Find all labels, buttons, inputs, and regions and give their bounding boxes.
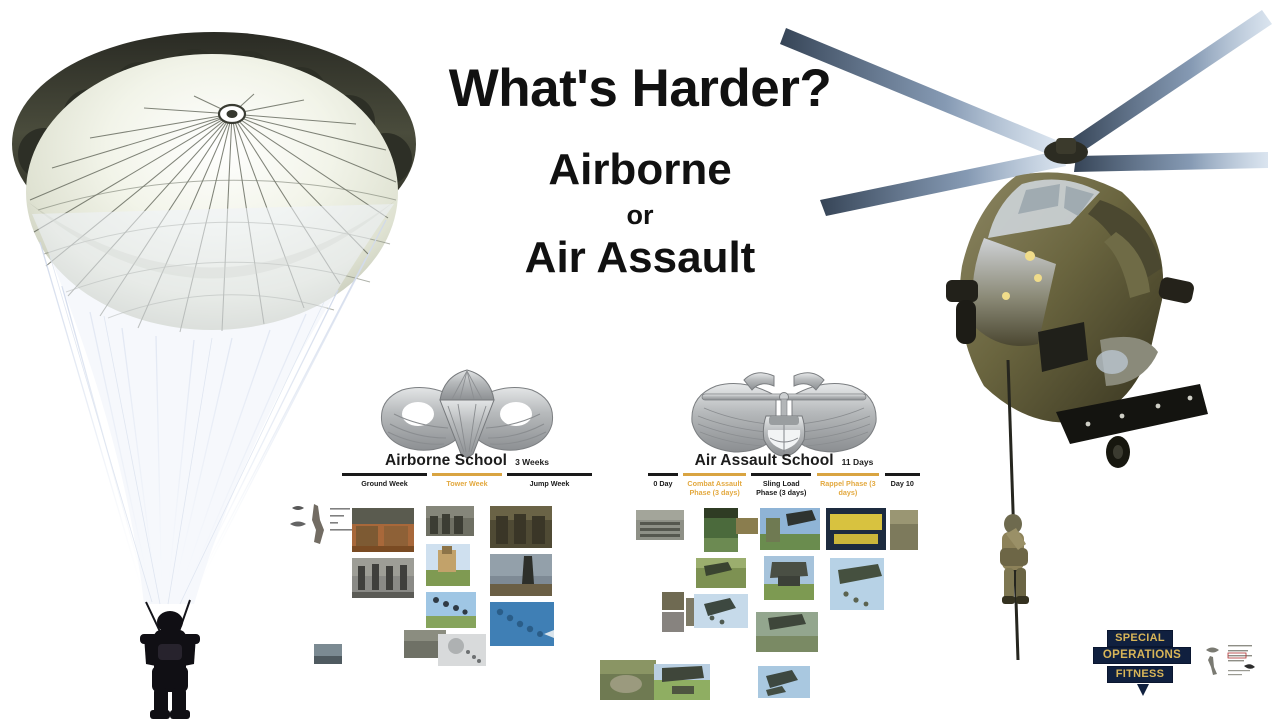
airborne-phase-labels: Ground Week Tower Week Jump Week <box>342 479 592 488</box>
paratrooper-silhouette <box>140 611 200 719</box>
air-assault-school-duration: 11 Days <box>842 457 874 467</box>
air-assault-phase-label: Sling Load Phase (3 days) <box>751 479 811 497</box>
airborne-school-duration: 3 Weeks <box>515 457 549 467</box>
page-title: What's Harder? <box>360 62 920 117</box>
airborne-jump-wings-badge <box>342 362 592 458</box>
air-assault-phase-labels: 0 Day Combat Assault Phase (3 days) Slin… <box>648 479 920 497</box>
document-thumbnail <box>1200 640 1258 682</box>
air-assault-phase-label: Rappel Phase (3 days) <box>817 479 880 497</box>
conjunction-or: or <box>360 201 920 229</box>
airborne-phase-label: Ground Week <box>342 479 427 488</box>
air-assault-phase-bar <box>648 473 920 476</box>
special-operations-fitness-logo: SPECIAL OPERATIONS FITNESS <box>1093 626 1193 700</box>
collage-photos <box>286 500 596 680</box>
airborne-school-name: Airborne School <box>385 452 507 470</box>
air-assault-timeline: Air Assault School 11 Days 0 Day Combat … <box>648 362 920 497</box>
airborne-training-photo-collage <box>286 500 596 680</box>
airborne-phase-bar <box>342 473 592 476</box>
airborne-phase-label: Jump Week <box>507 479 592 488</box>
air-assault-phase-label: Combat Assault Phase (3 days) <box>683 479 746 497</box>
title-block: What's Harder? Airborne or Air Assault <box>360 62 920 281</box>
airborne-phase-label: Tower Week <box>432 479 502 488</box>
air-assault-training-photo-collage <box>600 500 920 700</box>
air-assault-phase-label: Day 10 <box>885 479 920 497</box>
airborne-timeline: Airborne School 3 Weeks Ground Week Towe… <box>342 362 592 488</box>
air-assault-badge <box>648 362 920 458</box>
option-air-assault: Air Assault <box>360 235 920 281</box>
option-airborne: Airborne <box>360 147 920 193</box>
air-assault-school-name: Air Assault School <box>695 452 834 470</box>
collage-photos <box>600 500 920 700</box>
slide-canvas: Airborne School 3 Weeks Ground Week Towe… <box>0 0 1280 720</box>
air-assault-phase-label: 0 Day <box>648 479 678 497</box>
